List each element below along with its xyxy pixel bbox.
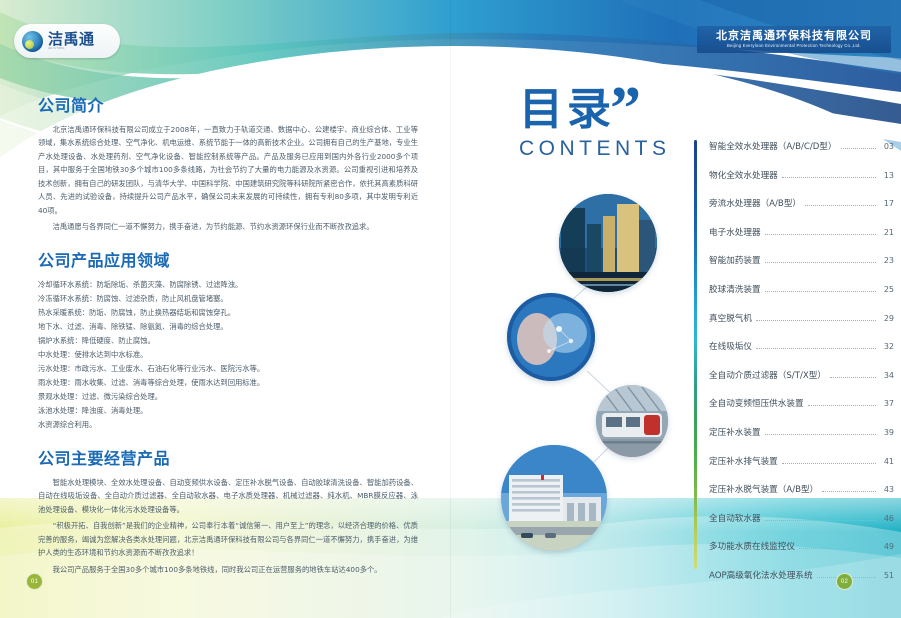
city-skyline-photo [559,194,657,292]
toc-leader-dots [765,290,876,292]
toc-entry-label: 物化全效水处理器 [709,169,778,181]
toc-entry-label: AOP高级氧化法水处理系统 [709,569,813,581]
left-page-content: 公司简介 北京洁禹通环保科技有限公司成立于2008年，一直致力于轨道交通、数据中… [38,92,418,589]
section-company-intro: 公司简介 北京洁禹通环保科技有限公司成立于2008年，一直致力于轨道交通、数据中… [38,92,418,234]
section-paragraph: “积极开拓、自我创新”是我们的企业精神，公司奉行本着“诚信第一、用户至上”的理念… [38,519,418,559]
quote-mark-decoration: ” [610,78,641,140]
toc-entry-page: 51 [880,571,894,580]
right-page-content: 目录 CONTENTS ” [451,0,901,618]
application-list: 冷却循环水系统：防垢除垢、杀菌灭藻、防腐除锈、过滤降浊。 冷冻循环水系统：防腐蚀… [38,278,418,432]
logo-chinese-name: 洁禹通 [48,32,95,47]
page-number-badge-left: 01 [26,573,43,590]
toc-entry[interactable]: 全自动软水器 46 [709,512,894,541]
list-item: 雨水处理：雨水收集、过滤、消毒等综合处理，使雨水达到回用标准。 [38,376,418,390]
toc-entry[interactable]: 定压补水脱气装置（A/B型） 43 [709,483,894,512]
toc-entry-label: 智能加药装置 [709,254,761,266]
photo-collage [481,185,681,580]
toc-entry[interactable]: 胶球清洗装置 25 [709,283,894,312]
toc-entry-page: 41 [880,457,894,466]
section-paragraph: 北京洁禹通环保科技有限公司成立于2008年，一直致力于轨道交通、数据中心、公建楼… [38,123,418,217]
toc-entry-label: 全自动软水器 [709,512,761,524]
toc-entry[interactable]: 多功能水质在线监控仪 49 [709,540,894,569]
toc-entry[interactable]: 全自动介质过滤器（S/T/X型） 34 [709,369,894,398]
city-skyline-art [559,194,657,292]
toc-entry[interactable]: 全自动变频恒压供水装置 37 [709,397,894,426]
toc-leader-dots [782,462,876,464]
page-number-badge-right: 02 [836,573,853,590]
toc-entry-page: 29 [880,314,894,323]
section-paragraph: 洁禹通愿与各界同仁一道不懈努力，携手奋进，为节约能源、节约水资源环保行业而不断孜… [38,220,418,233]
table-of-contents: 智能全效水处理器（A/B/C/D型） 03 物化全效水处理器 13 旁流水处理器… [694,140,894,598]
section-heading: 公司产品应用领域 [38,247,418,271]
smart-technology-photo [507,293,595,381]
toc-entry[interactable]: 定压补水装置 39 [709,426,894,455]
toc-entry-label: 胶球清洗装置 [709,283,761,295]
toc-entry[interactable]: 电子水处理器 21 [709,226,894,255]
water-drop-logo-icon [22,31,43,52]
list-item: 水资源综合利用。 [38,418,418,432]
section-paragraph: 智能水处理模块、全效水处理设备、自动变频供水设备、定压补水脱气设备、自动胶球清洗… [38,476,418,516]
list-item: 热水采暖系统：防垢、防腐蚀，防止换热器结垢和腐蚀穿孔。 [38,306,418,320]
toc-entry-label: 全自动变频恒压供水装置 [709,397,804,409]
toc-leader-dots [808,404,876,406]
section-heading: 公司主要经营产品 [38,445,418,469]
toc-entry-label: 定压补水脱气装置（A/B型） [709,483,818,495]
subway-train-photo [596,385,668,457]
list-item: 中水处理：使排水达到中水标准。 [38,348,418,362]
section-main-products: 公司主要经营产品 智能水处理模块、全效水处理设备、自动变频供水设备、定压补水脱气… [38,445,418,576]
subway-train-art [596,385,668,457]
toc-accent-bar [694,140,697,569]
list-item: 景观水处理：过滤、微污染综合处理。 [38,390,418,404]
toc-entry-label: 全自动介质过滤器（S/T/X型） [709,369,826,381]
toc-leader-dots [756,319,876,321]
toc-entry-page: 13 [880,171,894,180]
toc-entry-label: 定压补水装置 [709,426,761,438]
toc-entry-label: 真空脱气机 [709,312,752,324]
smart-technology-art [507,293,595,381]
toc-entry-page: 21 [880,228,894,237]
toc-entry[interactable]: 真空脱气机 29 [709,312,894,341]
hospital-building-art [501,445,607,551]
toc-entry-label: 在线吸垢仪 [709,340,752,352]
toc-entry-label: 电子水处理器 [709,226,761,238]
toc-entry[interactable]: 物化全效水处理器 13 [709,169,894,198]
list-item: 地下水、过滤、消毒、除铁锰、除氨氮、消毒的综合处理。 [38,320,418,334]
toc-entry-page: 17 [880,199,894,208]
toc-leader-dots [799,547,876,549]
toc-leader-dots [765,519,876,521]
toc-entry-page: 37 [880,399,894,408]
section-application-fields: 公司产品应用领域 冷却循环水系统：防垢除垢、杀菌灭藻、防腐除锈、过滤降浊。 冷冻… [38,247,418,432]
toc-entry-label: 多功能水质在线监控仪 [709,540,795,552]
list-item: 污水处理：市政污水、工业废水、石油石化等行业污水、医院污水等。 [38,362,418,376]
contents-title-english: CONTENTS [519,138,671,159]
toc-entry-page: 49 [880,542,894,551]
toc-entry-page: 39 [880,428,894,437]
list-item: 冷却循环水系统：防垢除垢、杀菌灭藻、防腐除锈、过滤降浊。 [38,278,418,292]
toc-entry[interactable]: 智能加药装置 23 [709,254,894,283]
company-logo: 洁禹通 JIEYUTONG [14,24,120,58]
list-item: 冷冻循环水系统：防腐蚀、过滤杂质，防止风机盘管堵塞。 [38,292,418,306]
toc-entry-label: 旁流水处理器（A/B型） [709,197,801,209]
toc-entry-label: 智能全效水处理器（A/B/C/D型） [709,140,837,152]
toc-entry-label: 定压补水排气装置 [709,455,778,467]
logo-english-name: JIEYUTONG [48,47,95,50]
brochure-spread: 洁禹通 JIEYUTONG 北京洁禹通环保科技有限公司 Beijing Ever… [0,0,901,618]
toc-entry-page: 34 [880,371,894,380]
list-item: 锅炉水系统：降低硬度、防止腐蚀。 [38,334,418,348]
toc-entry[interactable]: 旁流水处理器（A/B型） 17 [709,197,894,226]
toc-leader-dots [830,376,876,378]
toc-entry-page: 25 [880,285,894,294]
section-heading: 公司简介 [38,92,418,116]
contents-title-block: 目录 CONTENTS [519,88,671,159]
toc-entry-page: 46 [880,514,894,523]
toc-leader-dots [805,204,876,206]
toc-entry[interactable]: 定压补水排气装置 41 [709,455,894,484]
toc-entry[interactable]: 在线吸垢仪 32 [709,340,894,369]
section-paragraph: 我公司产品服务于全国30多个城市100多条地铁线，同时我公司正在运营服务的地铁车… [38,563,418,576]
toc-leader-dots [765,233,876,235]
toc-leader-dots [841,147,876,149]
toc-entry[interactable]: 智能全效水处理器（A/B/C/D型） 03 [709,140,894,169]
toc-entry[interactable]: AOP高级氧化法水处理系统 51 [709,569,894,598]
contents-title-chinese: 目录 [519,88,671,132]
toc-entry-page: 43 [880,485,894,494]
toc-leader-dots [822,490,876,492]
toc-leader-dots [765,261,876,263]
toc-leader-dots [782,176,876,178]
toc-entry-page: 23 [880,256,894,265]
list-item: 泳池水处理：降浊度、消毒处理。 [38,404,418,418]
toc-entry-page: 03 [880,142,894,151]
toc-leader-dots [765,433,876,435]
hospital-building-photo [501,445,607,551]
toc-entry-page: 32 [880,342,894,351]
toc-leader-dots [756,347,876,349]
